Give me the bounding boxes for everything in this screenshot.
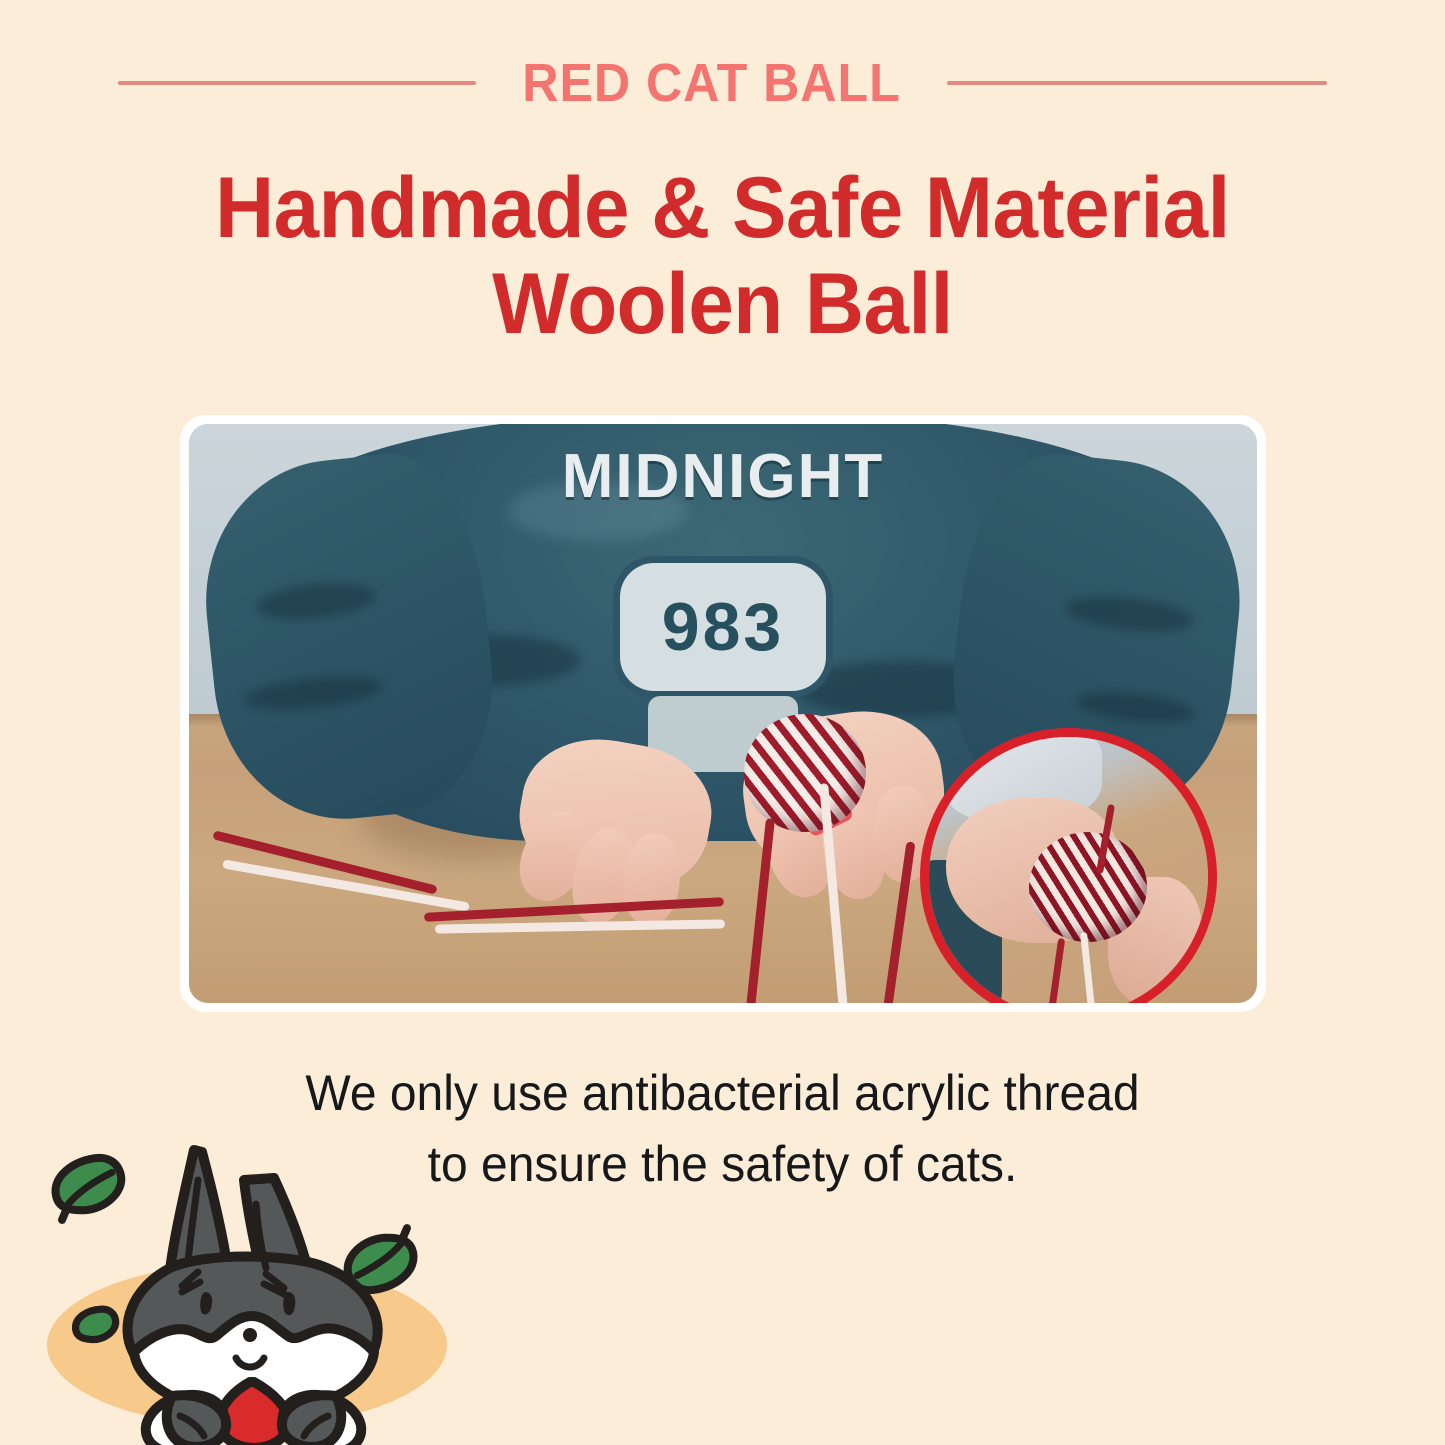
- photo-yarn-ball: [744, 714, 866, 832]
- caption-line-1: We only use antibacterial acrylic thread: [29, 1058, 1416, 1129]
- cat-nose: [243, 1328, 257, 1342]
- page-title-line-2: Woolen Ball: [36, 256, 1409, 352]
- sweatshirt-number: 983: [662, 588, 784, 666]
- cat-mascot: [22, 1120, 492, 1445]
- page-title: Handmade & Safe Material Woolen Ball: [0, 160, 1445, 353]
- eyebrow-label: RED CAT BALL: [522, 56, 900, 110]
- sweatshirt-number-patch: 983: [620, 563, 826, 691]
- leaf-icon: [49, 1153, 128, 1220]
- photo-closeup-inset: [920, 728, 1217, 1003]
- product-photo: MIDNIGHT 983: [189, 424, 1257, 1003]
- product-photo-card: MIDNIGHT 983: [180, 415, 1266, 1012]
- sweatshirt-text: MIDNIGHT: [503, 441, 943, 512]
- eyebrow-rule-right: [947, 81, 1327, 85]
- page-title-line-1: Handmade & Safe Material: [36, 160, 1409, 256]
- infographic-page: RED CAT BALL Handmade & Safe Material Wo…: [0, 0, 1445, 1445]
- eyebrow-rule-left: [118, 81, 476, 85]
- cat-eye-right: [283, 1292, 295, 1315]
- inset-yarn-ball: [1029, 832, 1147, 942]
- eyebrow-header: RED CAT BALL: [0, 44, 1445, 122]
